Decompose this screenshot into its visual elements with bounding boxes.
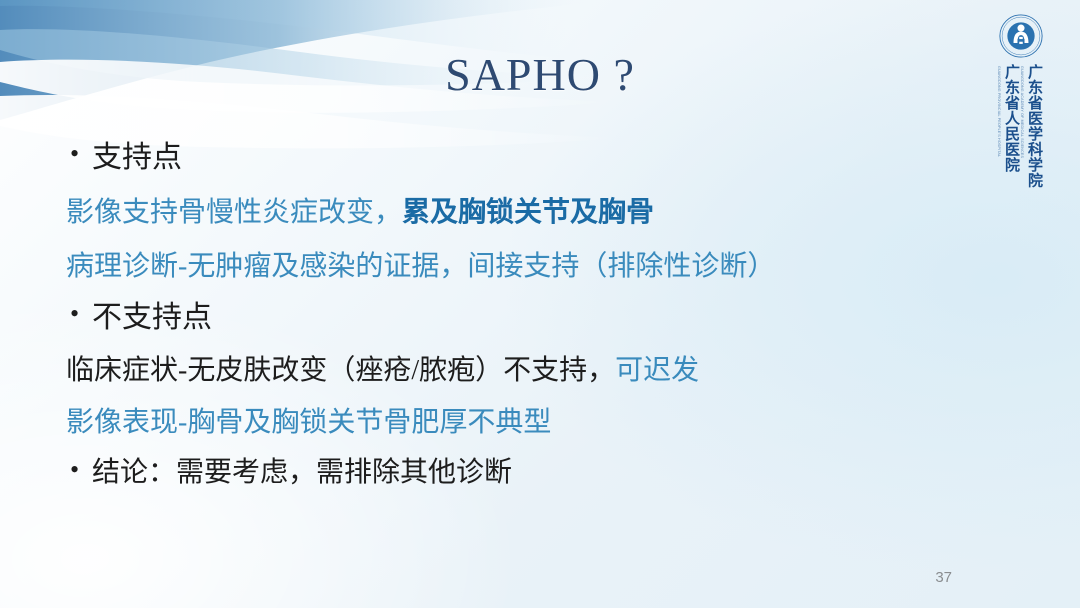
bullet-conclusion: 结论：需要考虑，需排除其他诊断 <box>66 459 996 487</box>
imaging-support-emphasis: 累及胸锁关节及胸骨 <box>402 197 654 228</box>
page-title: SAPHO ? <box>0 48 1080 101</box>
hospital-emblem-icon <box>999 14 1043 58</box>
hospital-logo: 广东省医学科学院 GUANGDONG ACADEMY OF MEDICAL SC… <box>976 8 1062 188</box>
imaging-support-text: 影像支持骨慢性炎症改变， <box>66 197 402 228</box>
hospital-logo-text: 广东省医学科学院 GUANGDONG ACADEMY OF MEDICAL SC… <box>976 64 1062 186</box>
presentation-slide: SAPHO ? 支持点 影像支持骨慢性炎症改变，累及胸锁关节及胸骨 病理诊断-无… <box>0 0 1080 608</box>
hospital-name-en: GUANGDONG PROVINCIAL PEOPLE'S HOSPITAL <box>997 66 1001 157</box>
bullet-nonsupport-heading: 不支持点 <box>66 303 996 333</box>
bullet-support-heading: 支持点 <box>66 143 996 173</box>
support-heading-text: 支持点 <box>92 141 182 174</box>
line-imaging-nonsupport: 影像表现-胸骨及胸锁关节骨肥厚不典型 <box>66 409 996 437</box>
institute-name: 广东省医学科学院 <box>1026 64 1041 186</box>
page-number: 37 <box>935 569 952 586</box>
line-pathology-support: 病理诊断-无肿瘤及感染的证据，间接支持（排除性诊断） <box>66 253 996 281</box>
conclusion-text: 结论：需要考虑，需排除其他诊断 <box>92 457 512 488</box>
hospital-name: 广东省人民医院 <box>1003 64 1018 186</box>
institute-name-en: GUANGDONG ACADEMY OF MEDICAL SCIENCES <box>1020 66 1024 158</box>
pathology-support-text: 病理诊断-无肿瘤及感染的证据，间接支持（排除性诊断） <box>66 251 775 282</box>
nonsupport-heading-text: 不支持点 <box>92 301 212 334</box>
line-imaging-support: 影像支持骨慢性炎症改变，累及胸锁关节及胸骨 <box>66 199 996 227</box>
clinical-nonsupport-note: 可迟发 <box>615 355 699 386</box>
clinical-nonsupport-text: 临床症状-无皮肤改变（痤疮/脓疱）不支持， <box>66 355 615 386</box>
line-clinical-nonsupport: 临床症状-无皮肤改变（痤疮/脓疱）不支持，可迟发 <box>66 357 996 385</box>
slide-body: 支持点 影像支持骨慢性炎症改变，累及胸锁关节及胸骨 病理诊断-无肿瘤及感染的证据… <box>66 143 996 487</box>
imaging-nonsupport-text: 影像表现-胸骨及胸锁关节骨肥厚不典型 <box>66 407 551 438</box>
